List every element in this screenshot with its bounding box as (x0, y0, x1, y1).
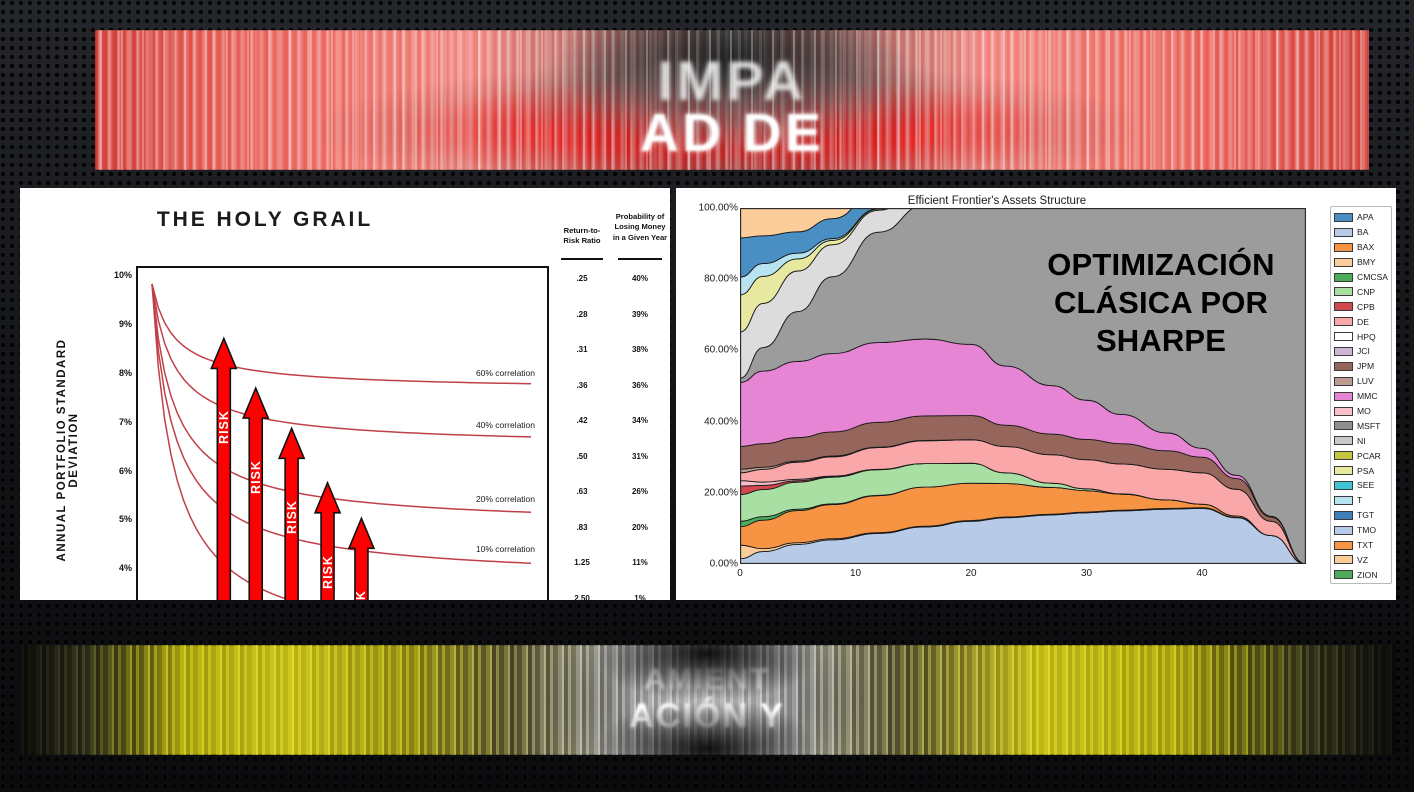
legend-swatch (1334, 273, 1353, 282)
legend-swatch (1334, 541, 1353, 550)
top-banner: IMPA AD DE (0, 0, 1414, 190)
holy-grail-y-tick: 6% (96, 466, 132, 476)
legend-item[interactable]: PSA (1334, 463, 1389, 478)
efficient-frontier-x-ticks: 010203040 (740, 568, 1306, 584)
holy-grail-y-tick: 9% (96, 319, 132, 329)
holy-grail-y-tick: 5% (96, 514, 132, 524)
legend-swatch (1334, 317, 1353, 326)
legend-swatch (1334, 302, 1353, 311)
legend-swatch (1334, 511, 1353, 520)
legend-label: JPM (1357, 361, 1374, 371)
legend-label: MO (1357, 406, 1371, 416)
legend-label: BAX (1357, 242, 1374, 252)
risk-arrow-label: RISK (354, 585, 368, 600)
table-cell-probability: 36% (612, 381, 668, 390)
bottom-banner: AMIENT ACIÓN Y (0, 600, 1414, 792)
table-cell-probability: 20% (612, 523, 668, 532)
legend-swatch (1334, 421, 1353, 430)
risk-arrow-label: RISK (285, 495, 299, 539)
risk-arrow-label: RISK (249, 455, 263, 499)
holy-grail-y-tick: 4% (96, 563, 132, 573)
legend-swatch (1334, 436, 1353, 445)
legend-swatch (1334, 287, 1353, 296)
legend-label: NI (1357, 436, 1366, 446)
holy-grail-title: THE HOLY GRAIL (20, 208, 510, 232)
bottom-banner-shadow (18, 645, 1396, 755)
legend-label: LUV (1357, 376, 1374, 386)
legend-swatch (1334, 347, 1353, 356)
legend-item[interactable]: VZ (1334, 552, 1389, 567)
holy-grail-ratio-table: Return-to-Risk Ratio Probability of Losi… (556, 202, 668, 600)
legend-item[interactable]: BMY (1334, 255, 1389, 270)
legend-label: HPQ (1357, 332, 1376, 342)
legend-label: TMO (1357, 525, 1376, 535)
legend-swatch (1334, 555, 1353, 564)
efficient-frontier-y-tick: 60.00% (682, 345, 738, 356)
legend-label: BMY (1357, 257, 1376, 267)
legend-item[interactable]: APA (1334, 210, 1389, 225)
holy-grail-y-tick: 8% (96, 368, 132, 378)
table-header-return-to-risk: Return-to-Risk Ratio (556, 226, 608, 247)
legend-item[interactable]: CMCSA (1334, 270, 1389, 285)
efficient-frontier-legend: APABABAXBMYCMCSACNPCPBDEHPQJCIJPMLUVMMCM… (1330, 206, 1392, 584)
table-cell-ratio: .42 (556, 416, 608, 425)
legend-item[interactable]: CPB (1334, 299, 1389, 314)
table-cell-ratio: .25 (556, 274, 608, 283)
table-cell-ratio: .28 (556, 310, 608, 319)
risk-arrow-label: RISK (217, 405, 231, 449)
holy-grail-chart-panel: THE HOLY GRAIL ANNUAL PORTFOLIO STANDARD… (20, 188, 670, 600)
legend-item[interactable]: CNP (1334, 284, 1389, 299)
legend-item[interactable]: MSFT (1334, 418, 1389, 433)
legend-swatch (1334, 213, 1353, 222)
legend-swatch (1334, 332, 1353, 341)
efficient-frontier-x-tick: 10 (850, 568, 861, 579)
legend-swatch (1334, 258, 1353, 267)
table-cell-probability: 39% (612, 310, 668, 319)
legend-item[interactable]: JCI (1334, 344, 1389, 359)
risk-arrow (211, 338, 236, 600)
table-cell-ratio: .50 (556, 452, 608, 461)
efficient-frontier-y-tick: 40.00% (682, 416, 738, 427)
legend-label: MMC (1357, 391, 1378, 401)
holy-grail-y-tick: 7% (96, 417, 132, 427)
top-banner-motion-blur (95, 30, 1369, 170)
legend-label: APA (1357, 212, 1374, 222)
legend-item[interactable]: MO (1334, 404, 1389, 419)
legend-label: ZION (1357, 570, 1378, 580)
legend-item[interactable]: TXT (1334, 538, 1389, 553)
legend-swatch (1334, 570, 1353, 579)
top-banner-image: IMPA AD DE (95, 30, 1369, 170)
efficient-frontier-y-tick: 20.00% (682, 487, 738, 498)
table-cell-probability: 34% (612, 416, 668, 425)
efficient-frontier-y-tick: 80.00% (682, 274, 738, 285)
legend-swatch (1334, 466, 1353, 475)
table-rule-right (618, 258, 662, 260)
legend-swatch (1334, 243, 1353, 252)
holy-grail-y-axis-label: ANNUAL PORTFOLIO STANDARD DEVIATION (56, 320, 80, 580)
legend-item[interactable]: HPQ (1334, 329, 1389, 344)
legend-item[interactable]: PCAR (1334, 448, 1389, 463)
legend-item[interactable]: TGT (1334, 508, 1389, 523)
holy-grail-risk-arrows: RISKRISKRISKRISKRISK (136, 266, 549, 600)
holy-grail-y-ticks: 10%9%8%7%6%5%4%3%2%1% (94, 266, 132, 600)
table-cell-ratio: .63 (556, 487, 608, 496)
legend-label: VZ (1357, 555, 1368, 565)
efficient-frontier-x-tick: 40 (1196, 568, 1207, 579)
legend-swatch (1334, 481, 1353, 490)
legend-item[interactable]: T (1334, 493, 1389, 508)
legend-label: TGT (1357, 510, 1374, 520)
efficient-frontier-x-tick: 20 (965, 568, 976, 579)
bottom-banner-image: AMIENT ACIÓN Y (18, 645, 1396, 755)
table-cell-ratio: .31 (556, 345, 608, 354)
legend-label: DE (1357, 317, 1369, 327)
table-cell-probability: 40% (612, 274, 668, 283)
legend-item[interactable]: ZION (1334, 567, 1389, 582)
risk-arrow-label: RISK (321, 550, 335, 594)
legend-label: MSFT (1357, 421, 1380, 431)
legend-item[interactable]: NI (1334, 433, 1389, 448)
legend-swatch (1334, 451, 1353, 460)
table-cell-ratio: .36 (556, 381, 608, 390)
legend-item[interactable]: SEE (1334, 478, 1389, 493)
legend-item[interactable]: DE (1334, 314, 1389, 329)
legend-label: T (1357, 495, 1362, 505)
table-cell-probability: 31% (612, 452, 668, 461)
legend-label: JCI (1357, 346, 1370, 356)
legend-item[interactable]: BAX (1334, 240, 1389, 255)
legend-swatch (1334, 526, 1353, 535)
legend-label: CPB (1357, 302, 1375, 312)
legend-label: TXT (1357, 540, 1373, 550)
table-cell-probability: 26% (612, 487, 668, 496)
table-cell-ratio: .83 (556, 523, 608, 532)
efficient-frontier-title: Efficient Frontier's Assets Structure (676, 195, 1318, 207)
legend-swatch (1334, 392, 1353, 401)
legend-label: SEE (1357, 480, 1374, 490)
efficient-frontier-x-tick: 0 (737, 568, 743, 579)
table-cell-ratio: 1.25 (556, 558, 608, 567)
legend-item[interactable]: LUV (1334, 374, 1389, 389)
optimization-overlay-text: OPTIMIZACIÓN CLÁSICA POR SHARPE (1016, 246, 1306, 359)
legend-swatch (1334, 362, 1353, 371)
table-cell-probability: 11% (612, 558, 668, 567)
efficient-frontier-chart-panel: Efficient Frontier's Assets Structure 0.… (676, 188, 1396, 600)
legend-item[interactable]: TMO (1334, 523, 1389, 538)
legend-swatch (1334, 407, 1353, 416)
table-header-probability: Probability of Losing Money in a Given Y… (612, 212, 668, 243)
legend-item[interactable]: JPM (1334, 359, 1389, 374)
legend-item[interactable]: MMC (1334, 389, 1389, 404)
legend-label: BA (1357, 227, 1368, 237)
efficient-frontier-y-tick: 0.00% (682, 559, 738, 570)
legend-label: PSA (1357, 466, 1374, 476)
legend-label: CNP (1357, 287, 1375, 297)
legend-label: PCAR (1357, 451, 1381, 461)
slide-background: IMPA AD DE THE HOLY GRAIL ANNUAL PORTFOL… (0, 0, 1414, 792)
legend-swatch (1334, 228, 1353, 237)
legend-swatch (1334, 496, 1353, 505)
legend-label: CMCSA (1357, 272, 1388, 282)
efficient-frontier-y-ticks: 0.00%20.00%40.00%60.00%80.00%100.00% (678, 208, 738, 564)
legend-item[interactable]: BA (1334, 225, 1389, 240)
efficient-frontier-x-tick: 30 (1081, 568, 1092, 579)
risk-arrow-svg (136, 266, 549, 600)
table-cell-probability: 38% (612, 345, 668, 354)
legend-swatch (1334, 377, 1353, 386)
holy-grail-y-tick: 10% (96, 270, 132, 280)
efficient-frontier-y-tick: 100.00% (682, 203, 738, 214)
table-rule-left (561, 258, 603, 260)
